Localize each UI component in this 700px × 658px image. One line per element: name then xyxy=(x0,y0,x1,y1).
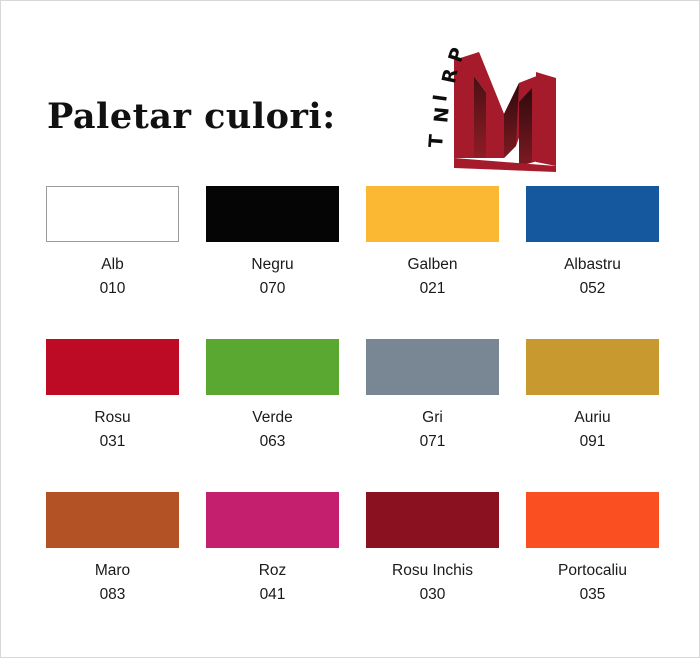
color-swatch-chip[interactable] xyxy=(206,186,339,242)
swatch-name-label: Galben xyxy=(366,253,499,277)
wordmark-letter-n: N xyxy=(430,106,454,124)
swatch-code-label: 091 xyxy=(526,430,659,454)
swatch-cell[interactable]: Verde063 xyxy=(206,339,366,492)
header: Paletar culori: xyxy=(0,0,700,180)
color-swatch-chip[interactable] xyxy=(46,339,179,395)
color-palette-grid: Alb010Negru070Galben021Albastru052Rosu03… xyxy=(0,186,700,645)
color-swatch-chip[interactable] xyxy=(206,339,339,395)
color-swatch-chip[interactable] xyxy=(46,492,179,548)
m-print-logo: P R I N T xyxy=(424,28,574,176)
wordmark-letter-p: P xyxy=(444,45,469,65)
swatch-cell[interactable]: Maro083 xyxy=(46,492,206,645)
swatch-name-label: Roz xyxy=(206,559,339,583)
swatch-code-label: 041 xyxy=(206,583,339,607)
color-swatch-chip[interactable] xyxy=(46,186,179,242)
swatch-name-label: Negru xyxy=(206,253,339,277)
swatch-cell[interactable]: Rosu031 xyxy=(46,339,206,492)
swatch-code-label: 010 xyxy=(46,277,179,301)
swatch-name-label: Albastru xyxy=(526,253,659,277)
swatch-name-label: Verde xyxy=(206,406,339,430)
swatch-cell[interactable]: Gri071 xyxy=(366,339,526,492)
swatch-name-label: Gri xyxy=(366,406,499,430)
swatch-code-label: 070 xyxy=(206,277,339,301)
swatch-cell[interactable]: Rosu Inchis030 xyxy=(366,492,526,645)
color-swatch-chip[interactable] xyxy=(366,492,499,548)
color-swatch-chip[interactable] xyxy=(366,186,499,242)
swatch-cell[interactable]: Auriu091 xyxy=(526,339,686,492)
swatch-code-label: 083 xyxy=(46,583,179,607)
swatch-code-label: 071 xyxy=(366,430,499,454)
swatch-name-label: Maro xyxy=(46,559,179,583)
swatch-name-label: Auriu xyxy=(526,406,659,430)
swatch-code-label: 063 xyxy=(206,430,339,454)
swatch-cell[interactable]: Galben021 xyxy=(366,186,526,339)
swatch-code-label: 021 xyxy=(366,277,499,301)
color-swatch-chip[interactable] xyxy=(526,492,659,548)
swatch-code-label: 031 xyxy=(46,430,179,454)
print-wordmark: P R I N T xyxy=(430,42,490,162)
swatch-code-label: 030 xyxy=(366,583,499,607)
color-palette-page: Paletar culori: xyxy=(0,0,700,658)
swatch-cell[interactable]: Negru070 xyxy=(206,186,366,339)
wordmark-letter-r: R xyxy=(438,67,463,86)
swatch-name-label: Alb xyxy=(46,253,179,277)
swatch-cell[interactable]: Roz041 xyxy=(206,492,366,645)
color-swatch-chip[interactable] xyxy=(366,339,499,395)
swatch-code-label: 052 xyxy=(526,277,659,301)
swatch-code-label: 035 xyxy=(526,583,659,607)
swatch-cell[interactable]: Portocaliu035 xyxy=(526,492,686,645)
wordmark-letter-i: I xyxy=(429,93,452,103)
wordmark-letter-t: T xyxy=(425,134,448,148)
page-title: Paletar culori: xyxy=(47,96,336,137)
swatch-name-label: Rosu xyxy=(46,406,179,430)
color-swatch-chip[interactable] xyxy=(526,186,659,242)
swatch-name-label: Portocaliu xyxy=(526,559,659,583)
color-swatch-chip[interactable] xyxy=(526,339,659,395)
swatch-cell[interactable]: Albastru052 xyxy=(526,186,686,339)
color-swatch-chip[interactable] xyxy=(206,492,339,548)
swatch-name-label: Rosu Inchis xyxy=(366,559,499,583)
swatch-cell[interactable]: Alb010 xyxy=(46,186,206,339)
